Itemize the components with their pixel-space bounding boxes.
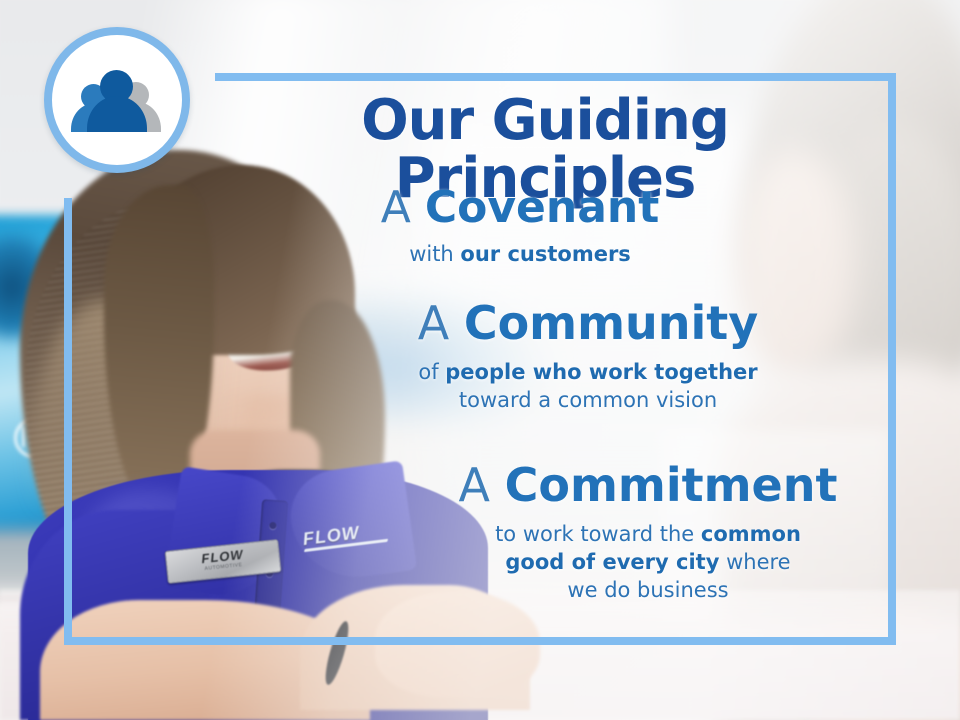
- principle-covenant-text: with our customers: [330, 240, 710, 268]
- principle-commitment-keyword: Commitment: [505, 458, 838, 512]
- people-group-icon: [69, 70, 165, 130]
- principle-commitment: A Commitment to work toward the commongo…: [432, 462, 864, 604]
- principle-commitment-heading: A Commitment: [432, 462, 864, 508]
- principle-covenant-keyword: Covenant: [425, 182, 659, 233]
- frame-top-border: [215, 73, 896, 81]
- principle-community-heading: A Community: [378, 300, 798, 346]
- principle-covenant-lead: A: [381, 182, 411, 233]
- principle-covenant: A Covenant with our customers: [330, 186, 710, 268]
- frame-bottom-border: [64, 637, 896, 645]
- frame-right-border: [888, 73, 896, 645]
- banner-canvas: FLOW FLOW AUTOMOTIVE: [0, 0, 960, 720]
- principle-commitment-text: to work toward the commongood of every c…: [432, 520, 864, 604]
- principle-community-keyword: Community: [464, 296, 758, 350]
- principle-community-text: of people who work togethertoward a comm…: [378, 358, 798, 414]
- principle-covenant-heading: A Covenant: [330, 186, 710, 230]
- frame-left-border: [64, 198, 72, 645]
- principle-community-lead: A: [418, 296, 449, 350]
- people-group-badge: [44, 27, 190, 173]
- principle-commitment-lead: A: [459, 458, 490, 512]
- principle-community: A Community of people who work togethert…: [378, 300, 798, 414]
